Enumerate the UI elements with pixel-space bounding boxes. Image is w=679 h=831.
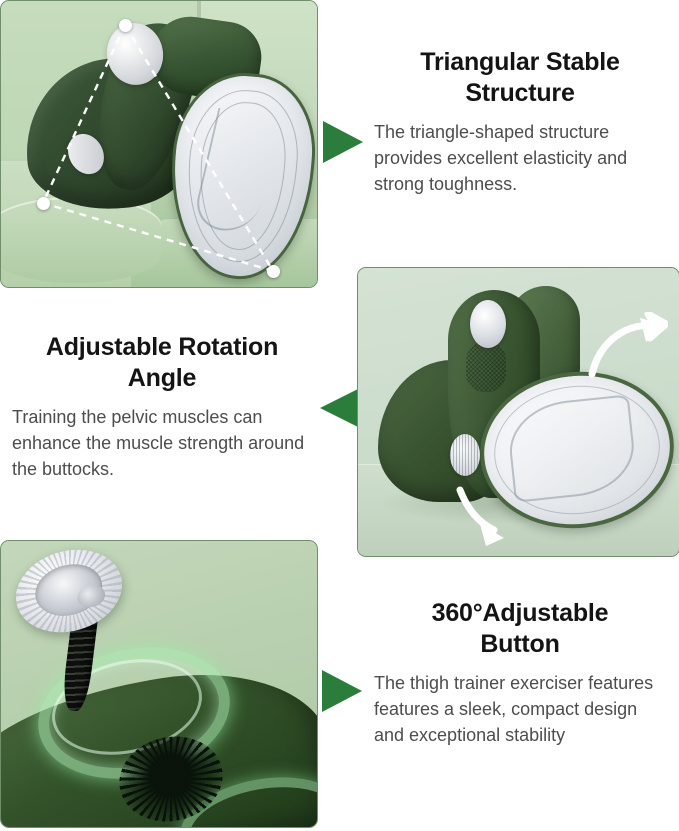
knob-face: [29, 557, 108, 624]
triangle-vertex-dot: [119, 19, 132, 32]
triangle-vertex-dot: [267, 265, 280, 278]
feature-title: 360°AdjustableButton: [374, 598, 666, 660]
photo-scene-two: [358, 268, 679, 556]
arrow-right-icon: [322, 670, 362, 712]
arrow-right-icon: [323, 121, 363, 163]
feature-description: Training the pelvic muscles can enhance …: [12, 404, 312, 482]
device-adjustment-knob: [450, 434, 480, 476]
feature-title: Adjustable RotationAngle: [12, 332, 312, 394]
feature-title: Triangular StableStructure: [374, 47, 666, 109]
knob-hub: [75, 582, 108, 611]
rotation-arrow-down-icon: [454, 484, 530, 550]
rotation-arrow-up-icon: [582, 312, 668, 382]
feature-text-triangular-stable-structure: Triangular StableStructure The triangle-…: [374, 47, 666, 197]
feature-text-360-adjustable-button: 360°AdjustableButton The thigh trainer e…: [374, 598, 666, 748]
dashed-triangle-overlay: [1, 1, 317, 287]
arrow-left-icon: [320, 389, 358, 427]
device-arm-texture: [466, 342, 506, 392]
device-pivot-knob: [470, 300, 506, 348]
triangle-vertex-dot: [37, 197, 50, 210]
feature-image-360-adjustable-button: [0, 540, 318, 828]
photo-scene-three: [1, 541, 317, 827]
photo-scene-one: [1, 1, 317, 287]
feature-text-adjustable-rotation-angle: Adjustable RotationAngle Training the pe…: [12, 332, 312, 482]
feature-image-triangular-stable-structure: [0, 0, 318, 288]
feature-description: The thigh trainer exerciser features fea…: [374, 670, 666, 748]
feature-image-adjustable-rotation-angle: [357, 267, 679, 557]
feature-description: The triangle-shaped structure provides e…: [374, 119, 666, 197]
